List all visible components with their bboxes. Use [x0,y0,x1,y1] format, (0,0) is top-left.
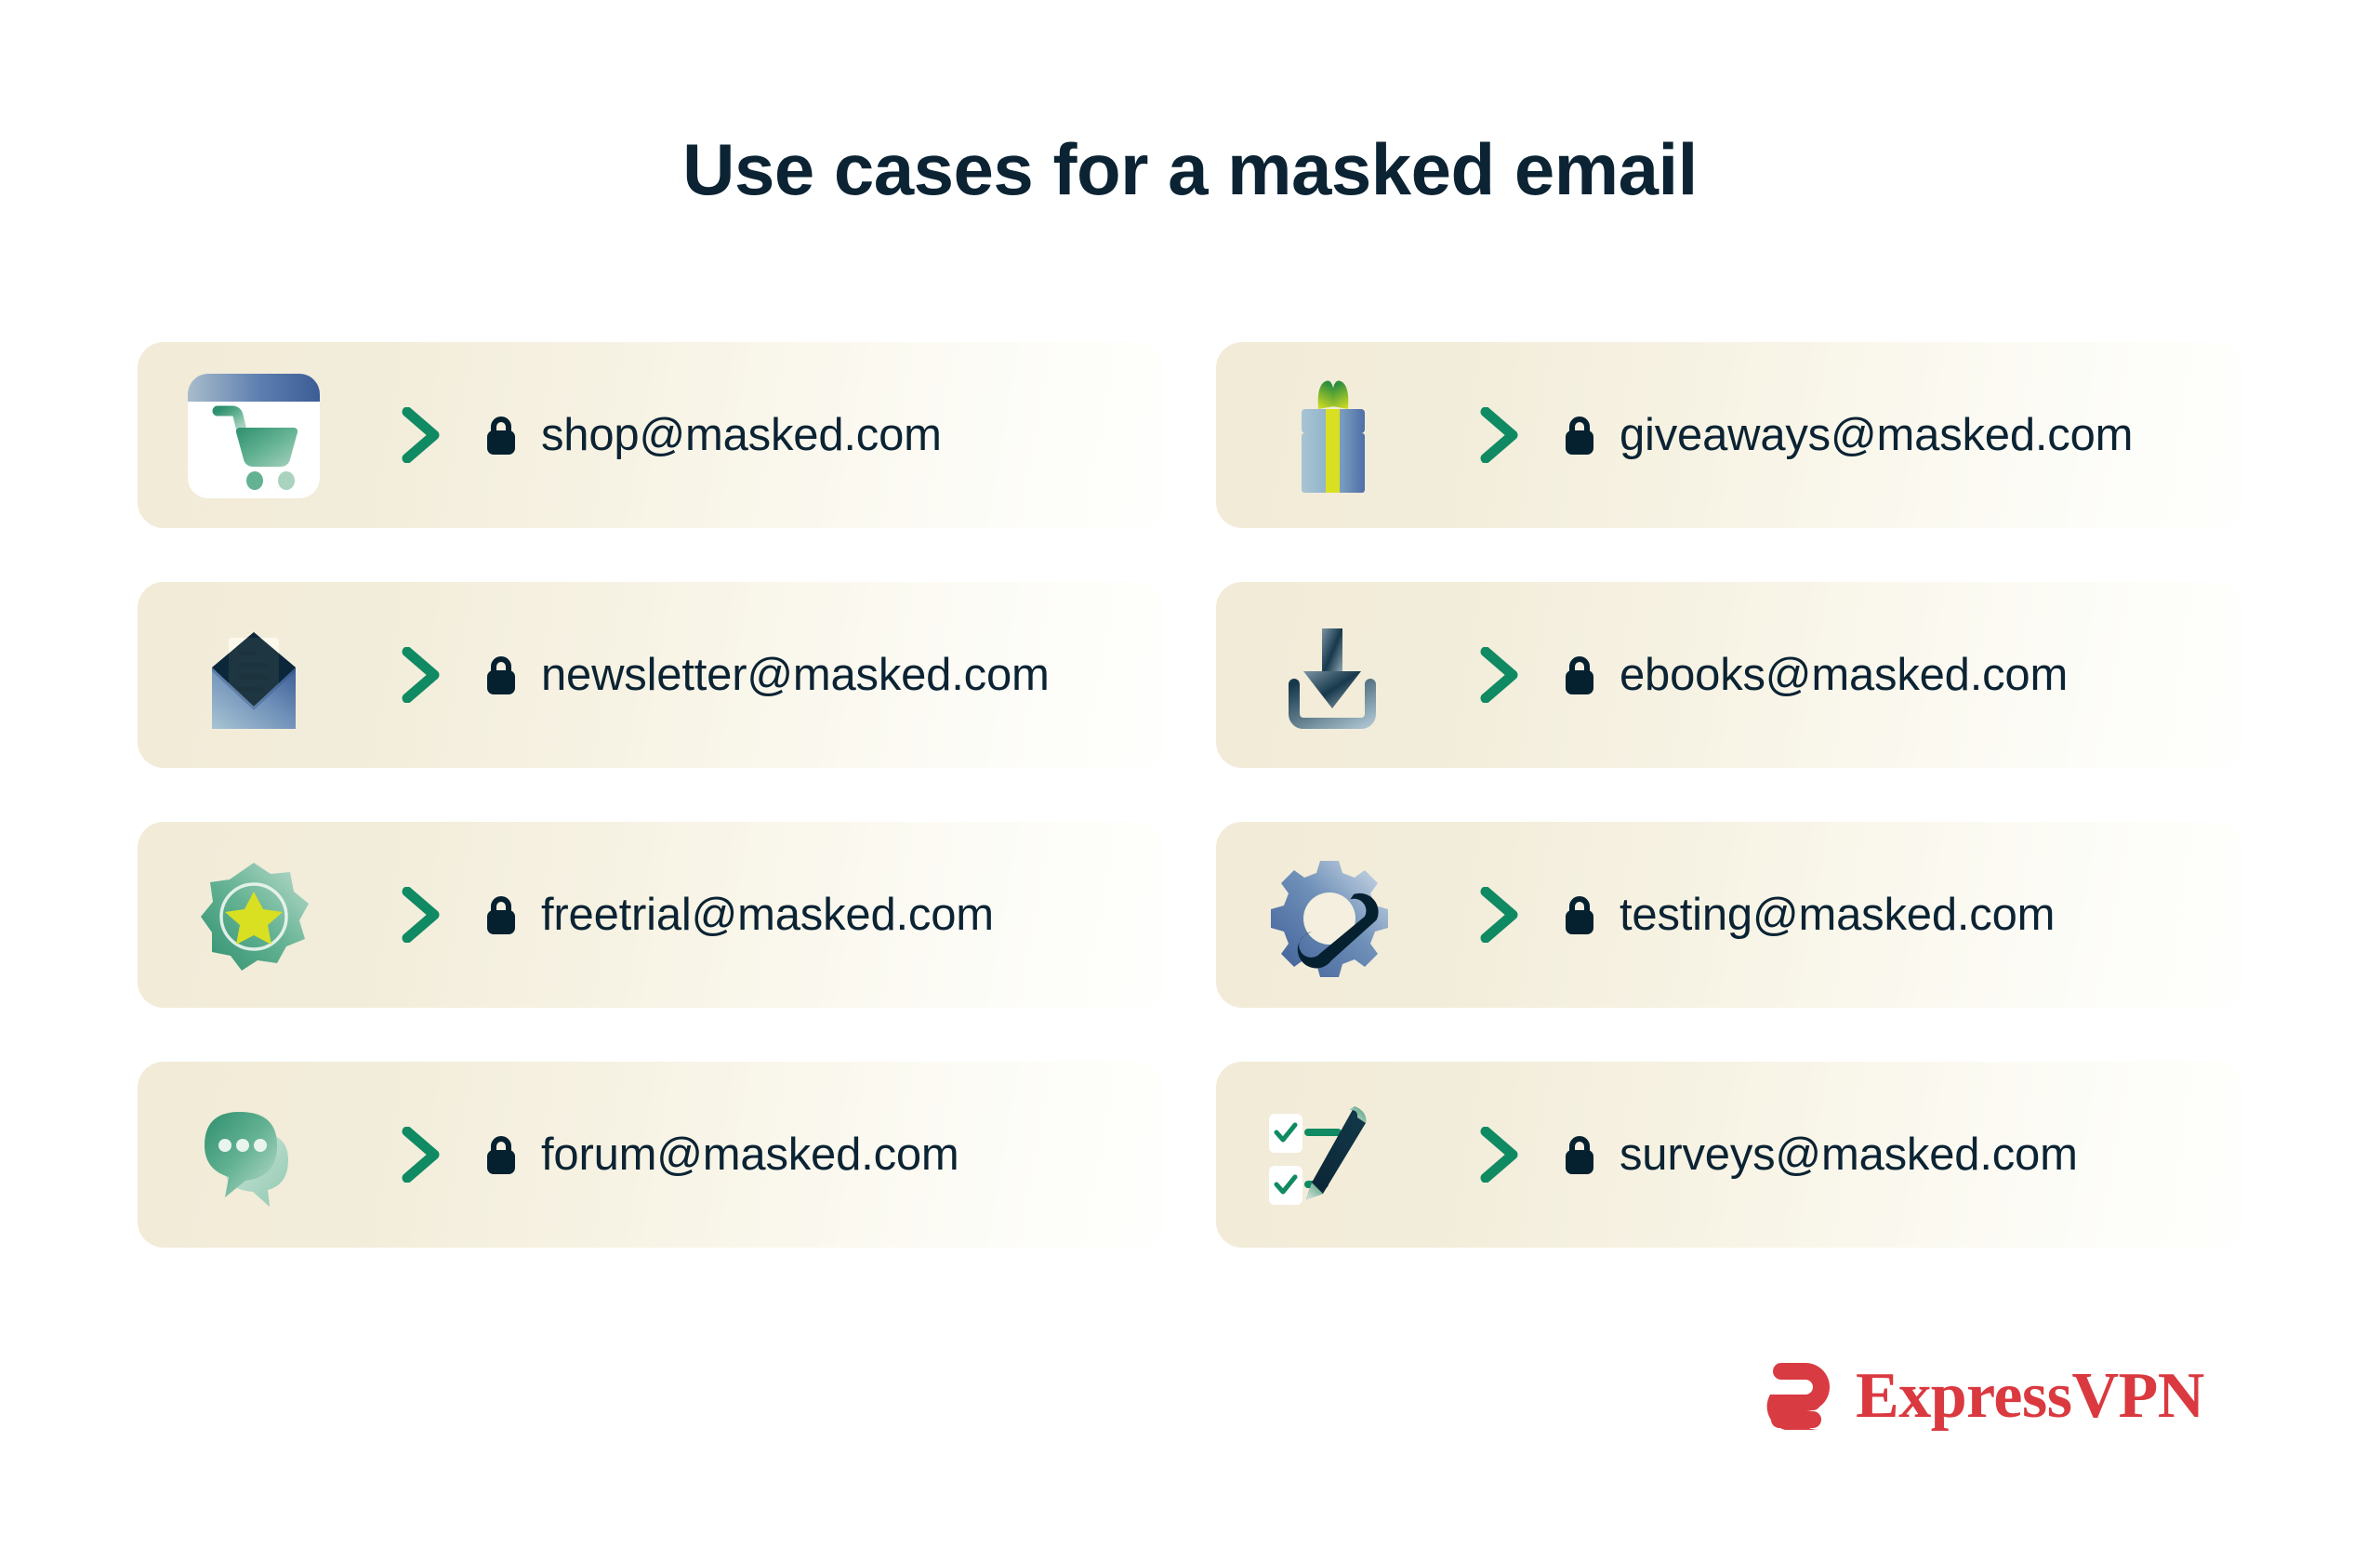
use-case-card-giveaways[interactable]: giveaways@masked.com [1216,342,2242,528]
arrow-right-icon [340,1127,463,1183]
lock-icon [1562,892,1597,937]
masked-email-newsletter: newsletter@masked.com [483,649,1050,701]
arrow-right-icon [1419,407,1541,463]
arrow-right-icon [1419,887,1541,943]
gear-wrench-icon [1246,822,1419,1008]
masked-email-freetrial: freetrial@masked.com [483,889,994,941]
arrow-right-icon [1419,1127,1541,1183]
masked-email-shop: shop@masked.com [483,409,942,461]
download-tray-icon [1246,582,1419,768]
email-address-text: shop@masked.com [541,409,942,461]
browser-cart-icon [167,342,340,528]
masked-email-forum: forum@masked.com [483,1129,959,1181]
expressvpn-wordmark: ExpressVPN [1856,1364,2204,1429]
arrow-right-icon [340,887,463,943]
lock-icon [1562,1132,1597,1177]
use-case-card-ebooks[interactable]: ebooks@masked.com [1216,582,2242,768]
email-address-text: surveys@masked.com [1620,1129,2078,1181]
use-case-card-newsletter[interactable]: newsletter@masked.com [138,582,1164,768]
expressvpn-e-mark-icon [1763,1357,1841,1435]
lock-icon [1562,653,1597,697]
page-title: Use cases for a masked email [0,130,2380,210]
email-address-text: newsletter@masked.com [541,649,1050,701]
email-address-text: forum@masked.com [541,1129,959,1181]
arrow-right-icon [1419,647,1541,703]
email-address-text: giveaways@masked.com [1620,409,2133,461]
use-cases-grid: shop@masked.com [138,342,2242,1248]
expressvpn-logo[interactable]: ExpressVPN [1763,1357,2204,1435]
use-case-card-testing[interactable]: testing@masked.com [1216,822,2242,1008]
checklist-pencil-icon [1246,1062,1419,1248]
masked-email-testing: testing@masked.com [1562,889,2055,941]
star-badge-icon [167,822,340,1008]
use-case-card-shop[interactable]: shop@masked.com [138,342,1164,528]
email-address-text: ebooks@masked.com [1620,649,2068,701]
lock-icon [483,1132,519,1177]
lock-icon [1562,413,1597,457]
email-address-text: freetrial@masked.com [541,889,994,941]
lock-icon [483,892,519,937]
lock-icon [483,653,519,697]
lock-icon [483,413,519,457]
arrow-right-icon [340,407,463,463]
gift-box-icon [1246,342,1419,528]
arrow-right-icon [340,647,463,703]
email-address-text: testing@masked.com [1620,889,2055,941]
open-envelope-icon [167,582,340,768]
masked-email-giveaways: giveaways@masked.com [1562,409,2133,461]
masked-email-ebooks: ebooks@masked.com [1562,649,2068,701]
use-case-card-surveys[interactable]: surveys@masked.com [1216,1062,2242,1248]
use-case-card-freetrial[interactable]: freetrial@masked.com [138,822,1164,1008]
masked-email-surveys: surveys@masked.com [1562,1129,2078,1181]
chat-bubbles-icon [167,1062,340,1248]
use-case-card-forum[interactable]: forum@masked.com [138,1062,1164,1248]
